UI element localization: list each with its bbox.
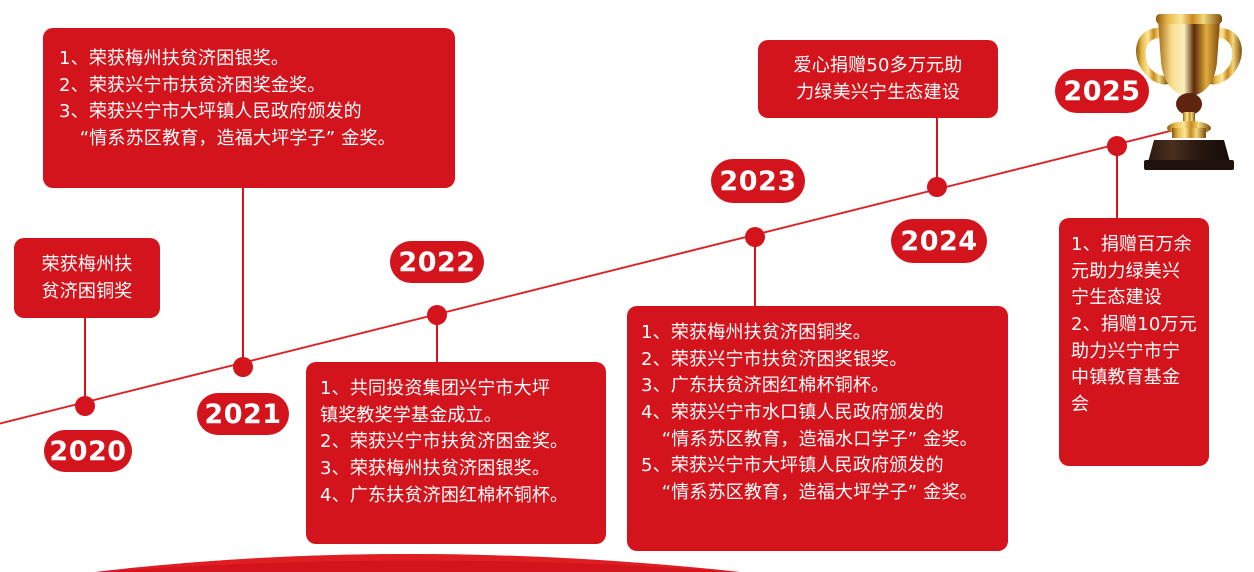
card-2025-line-3: 宁生态建设 bbox=[1071, 285, 1197, 312]
card-2022-line-1: 1、共同投资集团兴宁市大坪 bbox=[320, 376, 592, 403]
card-2020-line-1: 荣获梅州扶 bbox=[24, 252, 150, 279]
card-2023-line-2: 2、荣获兴宁市扶贫济困奖银奖。 bbox=[641, 347, 994, 374]
timeline-node-2020 bbox=[75, 396, 95, 416]
bottom-arc-decoration bbox=[95, 554, 740, 572]
card-2021-line-1: 1、荣获梅州扶贫济困银奖。 bbox=[59, 46, 439, 73]
card-2025-line-1: 1、捐赠百万余 bbox=[1071, 232, 1197, 259]
card-2025: 1、捐赠百万余 元助力绿美兴 宁生态建设 2、捐赠10万元 助力兴宁市宁 中镇教… bbox=[1059, 218, 1209, 466]
card-2024-line-1: 爱心捐赠50多万元助 bbox=[770, 53, 986, 80]
timeline-node-2023 bbox=[745, 227, 765, 247]
card-2020: 荣获梅州扶 贫济困铜奖 bbox=[14, 238, 160, 318]
card-2021-line-4: “情系苏区教育，造福大坪学子” 金奖。 bbox=[59, 126, 439, 153]
timeline-node-2021 bbox=[233, 357, 253, 377]
card-2023-line-4: 4、荣获兴宁市水口镇人民政府颁发的 bbox=[641, 400, 994, 427]
card-2025-line-6: 中镇教育基金 bbox=[1071, 365, 1197, 392]
card-2022-line-3: 2、荣获兴宁市扶贫济困金奖。 bbox=[320, 429, 592, 456]
card-2020-line-2: 贫济困铜奖 bbox=[24, 279, 150, 306]
card-2025-line-7: 会 bbox=[1071, 392, 1197, 419]
card-2024-line-2: 力绿美兴宁生态建设 bbox=[770, 80, 986, 107]
year-badge-2021[interactable]: 2021 bbox=[197, 393, 289, 435]
card-2023-line-5: “情系苏区教育，造福水口学子” 金奖。 bbox=[641, 427, 994, 454]
card-2021-line-3: 3、荣获兴宁市大坪镇人民政府颁发的 bbox=[59, 99, 439, 126]
year-badge-2023[interactable]: 2023 bbox=[711, 159, 805, 203]
bottom-arc-highlight bbox=[95, 554, 740, 572]
card-2022: 1、共同投资集团兴宁市大坪 镇奖教奖学基金成立。 2、荣获兴宁市扶贫济困金奖。 … bbox=[306, 362, 606, 544]
card-2022-line-5: 4、广东扶贫济困红棉杯铜杯。 bbox=[320, 483, 592, 510]
card-2023-line-3: 3、广东扶贫济困红棉杯铜杯。 bbox=[641, 373, 994, 400]
card-2023-line-6: 5、荣获兴宁市大坪镇人民政府颁发的 bbox=[641, 453, 994, 480]
card-2022-line-4: 3、荣获梅州扶贫济困银奖。 bbox=[320, 456, 592, 483]
card-2021-line-2: 2、荣获兴宁市扶贫济困奖金奖。 bbox=[59, 73, 439, 100]
card-2024: 爱心捐赠50多万元助 力绿美兴宁生态建设 bbox=[758, 40, 998, 118]
card-2022-line-2: 镇奖教奖学基金成立。 bbox=[320, 403, 592, 430]
card-2021: 1、荣获梅州扶贫济困银奖。 2、荣获兴宁市扶贫济困奖金奖。 3、荣获兴宁市大坪镇… bbox=[43, 28, 455, 188]
card-2023: 1、荣获梅州扶贫济困铜奖。 2、荣获兴宁市扶贫济困奖银奖。 3、广东扶贫济困红棉… bbox=[627, 306, 1008, 551]
year-badge-2022[interactable]: 2022 bbox=[390, 241, 484, 283]
card-2023-line-1: 1、荣获梅州扶贫济困铜奖。 bbox=[641, 320, 994, 347]
year-badge-2024[interactable]: 2024 bbox=[891, 219, 987, 263]
timeline-infographic: 荣获梅州扶 贫济困铜奖 1、荣获梅州扶贫济困银奖。 2、荣获兴宁市扶贫济困奖金奖… bbox=[0, 0, 1254, 572]
year-badge-2020[interactable]: 2020 bbox=[44, 430, 132, 472]
card-2025-line-5: 助力兴宁市宁 bbox=[1071, 339, 1197, 366]
card-2023-line-7: “情系苏区教育，造福大坪学子” 金奖。 bbox=[641, 480, 994, 507]
card-2025-line-4: 2、捐赠10万元 bbox=[1071, 312, 1197, 339]
year-badge-2025[interactable]: 2025 bbox=[1055, 69, 1149, 113]
timeline-node-2024 bbox=[927, 177, 947, 197]
card-2025-line-2: 元助力绿美兴 bbox=[1071, 259, 1197, 286]
timeline-node-2022 bbox=[427, 305, 447, 325]
